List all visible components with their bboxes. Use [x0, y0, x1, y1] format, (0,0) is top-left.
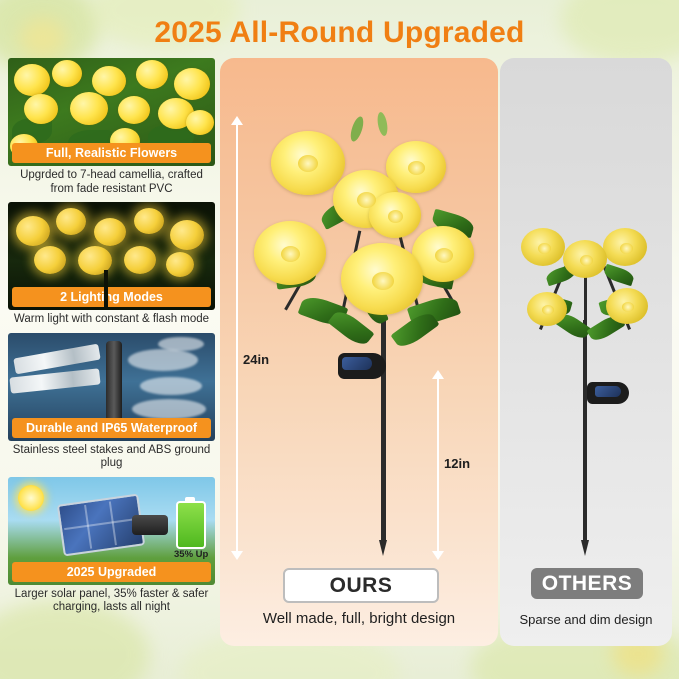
others-flower-core: [580, 255, 593, 266]
page-title: 2025 All-Round Upgraded: [0, 16, 679, 50]
flower-shape: [92, 66, 126, 96]
ours-main-stake: [381, 300, 386, 542]
feature-photo-solar: 35% Up 2025 Upgraded: [8, 477, 215, 585]
feature-photo-lighting: 2 Lighting Modes: [8, 202, 215, 310]
others-main-stake: [583, 320, 587, 542]
feature-caption: 2 Lighting Modes: [12, 287, 211, 307]
feature-caption: Full, Realistic Flowers: [12, 143, 211, 163]
flower-shape: [174, 68, 210, 100]
flower-shape: [52, 60, 82, 87]
others-flower-core: [542, 305, 554, 315]
ours-flower-core: [372, 272, 394, 290]
lit-flower-shape: [16, 216, 50, 246]
others-stake-tip: [581, 540, 589, 556]
ours-flower-core: [435, 248, 453, 263]
ours-flower-core: [281, 246, 300, 262]
feature-description: Stainless steel stakes and ABS ground pl…: [8, 441, 215, 471]
feature-photo-flowers: Full, Realistic Flowers: [8, 58, 215, 166]
others-tagline: Sparse and dim design: [500, 612, 672, 627]
feature-caption: 2025 Upgraded: [12, 562, 211, 582]
others-solar-panel-face: [595, 386, 621, 397]
others-flower-core: [622, 302, 634, 312]
water-spray: [128, 349, 198, 371]
solar-lamp-body: [132, 515, 168, 535]
flower-shape: [70, 92, 108, 125]
others-flower-core: [538, 243, 551, 254]
panel-grid-line: [64, 518, 134, 529]
lit-flower-shape: [56, 208, 86, 235]
measurement-label-12in: 12in: [444, 456, 470, 471]
product-infographic: 2025 All-Round Upgraded: [0, 0, 679, 679]
stake-shape: [104, 270, 108, 310]
others-badge: OTHERS: [531, 568, 643, 599]
feature-caption: Durable and IP65 Waterproof: [12, 418, 211, 438]
sun-icon: [18, 485, 44, 511]
battery-icon: [176, 501, 206, 549]
ours-stake-tip: [379, 540, 387, 556]
ours-solar-panel-face: [342, 357, 372, 370]
feature-photo-waterproof: Durable and IP65 Waterproof: [8, 333, 215, 441]
feature-item-solar: 35% Up 2025 Upgraded Larger solar panel,…: [8, 477, 215, 615]
measurement-label-24in: 24in: [243, 352, 269, 367]
flower-shape: [136, 60, 168, 89]
battery-charge-label: 35% Up: [174, 549, 208, 560]
feature-item-flowers: Full, Realistic Flowers Upgrded to 7-hea…: [8, 58, 215, 196]
feature-description: Upgrded to 7-head camellia, crafted from…: [8, 166, 215, 196]
feature-description: Larger solar panel, 35% faster & safer c…: [8, 585, 215, 615]
water-spray: [140, 377, 202, 395]
ours-flower-core: [408, 161, 425, 175]
others-flower-core: [620, 243, 633, 254]
ours-flower-core: [388, 210, 403, 223]
lit-flower-shape: [166, 252, 194, 277]
lit-flower-shape: [94, 218, 126, 246]
flower-shape: [14, 64, 50, 96]
lit-flower-shape: [34, 246, 66, 274]
feature-item-waterproof: Durable and IP65 Waterproof Stainless st…: [8, 333, 215, 471]
ours-flower-core: [298, 155, 318, 172]
water-spray: [158, 337, 204, 351]
lit-flower-shape: [134, 208, 164, 234]
feature-list: Full, Realistic Flowers Upgrded to 7-hea…: [8, 58, 215, 621]
ours-flower-core: [357, 192, 376, 208]
feature-item-lighting: 2 Lighting Modes Warm light with constan…: [8, 202, 215, 327]
arrow-head-down-icon: [432, 551, 444, 560]
ours-tagline: Well made, full, bright design: [220, 610, 498, 627]
lit-flower-shape: [124, 246, 156, 274]
flower-shape: [118, 96, 150, 124]
lit-flower-shape: [170, 220, 204, 250]
flower-shape: [24, 94, 58, 124]
measurement-line: [437, 378, 439, 556]
water-spray: [132, 399, 206, 419]
feature-description: Warm light with constant & flash mode: [8, 310, 215, 327]
flower-shape: [186, 110, 214, 135]
ours-badge: OURS: [283, 568, 439, 603]
arrow-head-down-icon: [231, 551, 243, 560]
measurement-line: [236, 124, 238, 556]
